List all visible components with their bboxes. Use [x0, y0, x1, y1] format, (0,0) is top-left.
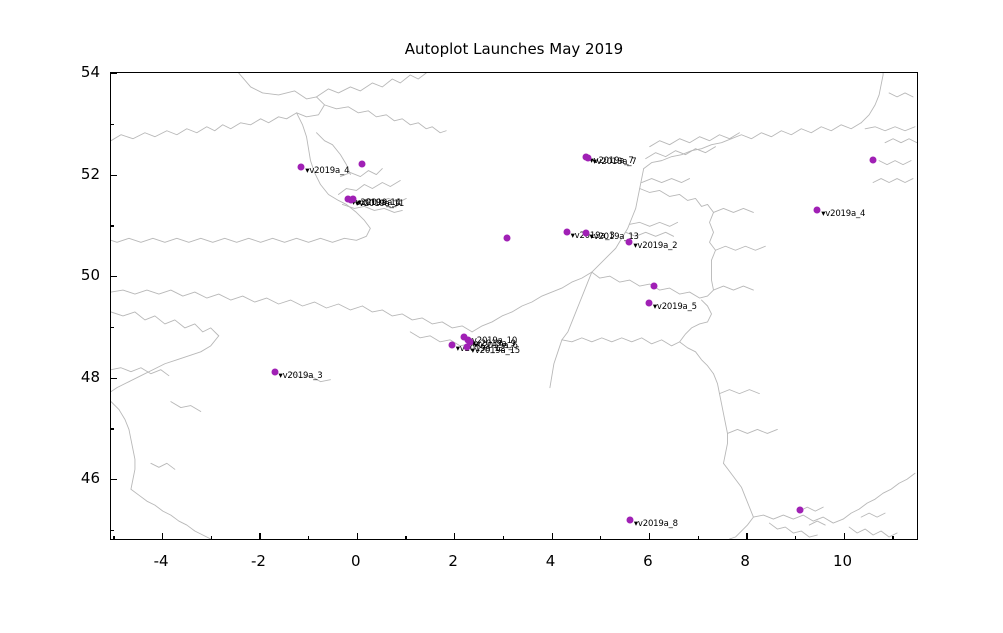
x-tick-major [259, 533, 260, 540]
data-point[interactable] [626, 516, 633, 523]
y-tick-label: 54 [66, 63, 100, 81]
y-tick-label: 46 [66, 469, 100, 487]
x-tick-minor [113, 536, 114, 540]
x-tick-major [746, 533, 747, 540]
data-point-label: ▾v2019a_1 [357, 198, 401, 208]
data-point[interactable] [503, 235, 510, 242]
data-point[interactable] [358, 160, 365, 167]
data-point-label: ▾v2019a_3 [279, 371, 323, 381]
y-tick-major [110, 276, 117, 277]
x-tick-label: 2 [448, 552, 458, 570]
y-tick-label: 52 [66, 165, 100, 183]
data-point[interactable] [563, 228, 570, 235]
data-point[interactable] [626, 238, 633, 245]
x-tick-minor [503, 536, 504, 540]
y-tick-major [110, 378, 117, 379]
x-tick-major [162, 533, 163, 540]
x-tick-label: -4 [154, 552, 169, 570]
data-point[interactable] [271, 368, 278, 375]
y-tick-minor [110, 327, 114, 328]
y-tick-major [110, 479, 117, 480]
data-point-label: ▾v2019a_5 [653, 302, 697, 312]
x-tick-minor [698, 536, 699, 540]
x-tick-label: -2 [251, 552, 266, 570]
x-tick-minor [600, 536, 601, 540]
x-tick-label: 4 [546, 552, 556, 570]
basemap-coastlines [111, 73, 917, 539]
data-point[interactable] [448, 341, 455, 348]
y-tick-major [110, 175, 117, 176]
data-point-label: ▾v2018a_7 [592, 157, 636, 167]
x-tick-minor [405, 536, 406, 540]
y-tick-minor [110, 124, 114, 125]
data-point-label: ▾v2019a_4 [821, 209, 865, 219]
x-tick-major [552, 533, 553, 540]
y-tick-label: 48 [66, 368, 100, 386]
y-tick-label: 50 [66, 266, 100, 284]
x-tick-label: 0 [351, 552, 361, 570]
x-tick-minor [308, 536, 309, 540]
x-tick-major [844, 533, 845, 540]
plot-axes-frame [110, 72, 918, 540]
x-tick-major [357, 533, 358, 540]
x-tick-major [649, 533, 650, 540]
x-tick-label: 8 [740, 552, 750, 570]
data-point[interactable] [869, 157, 876, 164]
y-tick-minor [110, 225, 114, 226]
figure-canvas: Autoplot Launches May 2019 [0, 0, 1003, 633]
data-point-label: ▾v2019a_2 [633, 241, 677, 251]
data-point[interactable] [350, 196, 357, 203]
data-point-label: ▾v2019a_4 [305, 166, 349, 176]
y-tick-minor [110, 530, 114, 531]
data-point[interactable] [582, 230, 589, 237]
x-tick-minor [211, 536, 212, 540]
data-point[interactable] [463, 344, 470, 351]
y-tick-minor [110, 428, 114, 429]
x-tick-minor [892, 536, 893, 540]
data-point-label: ▾v2019a_15 [471, 346, 520, 356]
data-point[interactable] [814, 207, 821, 214]
page-title: Autoplot Launches May 2019 [110, 40, 918, 58]
y-tick-major [110, 73, 117, 74]
data-point[interactable] [298, 163, 305, 170]
data-point[interactable] [645, 300, 652, 307]
data-point[interactable] [650, 283, 657, 290]
data-point[interactable] [585, 154, 592, 161]
x-tick-minor [795, 536, 796, 540]
data-point-label: ▾v2019a_8 [634, 519, 678, 529]
data-point[interactable] [796, 507, 803, 514]
x-tick-label: 6 [643, 552, 653, 570]
x-tick-major [454, 533, 455, 540]
x-tick-label: 10 [833, 552, 852, 570]
